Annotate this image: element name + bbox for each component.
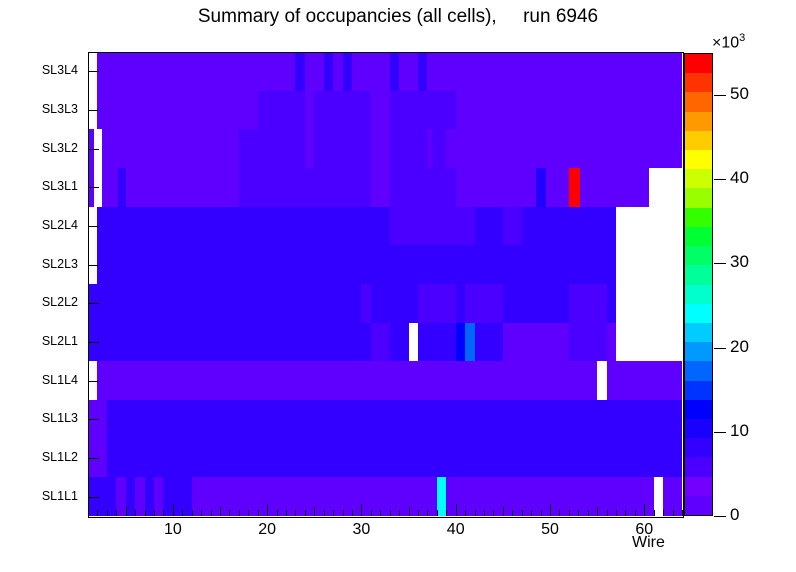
color-bar-band (685, 360, 712, 380)
x-axis-tick (475, 510, 476, 516)
y-axis-label-sl2l3: SL2L3 (8, 257, 78, 271)
x-axis-tick (635, 510, 636, 516)
color-bar-band (685, 303, 712, 323)
x-axis-tick (550, 504, 551, 516)
x-axis-tick (597, 507, 598, 516)
heatmap-cell (569, 168, 580, 207)
x-axis-tick (588, 510, 589, 516)
heatmap-cell (352, 52, 390, 91)
color-bar-band (685, 284, 712, 304)
heatmap-cell (107, 439, 682, 478)
heatmap-cell (616, 245, 682, 284)
y-axis-tick (88, 71, 99, 72)
x-axis-tick (314, 507, 315, 516)
heatmap-cell (314, 129, 371, 168)
heatmap-cell (437, 477, 446, 516)
heatmap-cell (305, 52, 324, 91)
y-axis-label-sl2l1: SL2L1 (8, 334, 78, 348)
y-axis-label-sl3l4: SL3L4 (8, 63, 78, 77)
color-bar-label-20: 20 (730, 337, 749, 357)
heatmap-cell (390, 168, 456, 207)
color-bar-label-10: 10 (730, 421, 749, 441)
x-axis-tick (305, 510, 306, 516)
x-axis-tick (616, 510, 617, 516)
color-bar-band (685, 418, 712, 438)
heatmap-cell (314, 91, 371, 130)
y-axis-tick (88, 303, 99, 304)
x-axis-tick (654, 510, 655, 516)
color-bar-multiplier-exponent: 3 (739, 32, 745, 44)
x-axis-tick (333, 510, 334, 516)
x-axis-tick (258, 510, 259, 516)
x-axis-tick (229, 510, 230, 516)
x-axis-label-40: 40 (426, 521, 486, 539)
x-axis-tick (352, 510, 353, 516)
x-axis-tick (126, 507, 127, 516)
color-bar-tick (714, 179, 726, 180)
x-axis-label-50: 50 (520, 521, 580, 539)
x-axis-tick (484, 510, 485, 516)
heatmap-cell (376, 129, 390, 168)
heatmap-cell (418, 284, 456, 323)
y-axis-label-sl1l3: SL1L3 (8, 411, 78, 425)
x-axis-tick (135, 510, 136, 516)
heatmap-cell (97, 361, 682, 400)
y-axis-tick (88, 497, 99, 498)
heatmap-cell (135, 477, 144, 516)
color-bar[interactable] (684, 53, 713, 516)
y-axis-tick (88, 265, 99, 266)
heatmap-cell (324, 52, 333, 91)
y-axis-label-sl2l4: SL2L4 (8, 218, 78, 232)
x-axis-tick (427, 510, 428, 516)
heatmap-cell (258, 91, 305, 130)
color-bar-tick (714, 516, 726, 517)
x-axis-tick (107, 510, 108, 516)
color-bar-label-40: 40 (730, 168, 749, 188)
x-axis-tick (541, 510, 542, 516)
heatmap-cell (616, 323, 682, 362)
heatmap-cell (418, 52, 427, 91)
x-axis-tick (182, 510, 183, 516)
x-axis-tick (559, 510, 560, 516)
x-axis-tick (682, 510, 683, 516)
heatmap-cell (97, 52, 295, 91)
x-axis-tick (409, 507, 410, 516)
y-axis-label-sl3l3: SL3L3 (8, 102, 78, 116)
heatmap-cell (409, 323, 418, 362)
color-bar-band (685, 322, 712, 342)
x-axis-tick (522, 510, 523, 516)
x-axis-tick (343, 510, 344, 516)
heatmap-cell (371, 323, 390, 362)
x-axis-tick (446, 510, 447, 516)
heatmap-cell (88, 168, 682, 207)
heatmap-cell (503, 207, 522, 246)
color-bar-label-30: 30 (730, 252, 749, 272)
x-axis-tick (116, 510, 117, 516)
y-axis-label-sl1l1: SL1L1 (8, 489, 78, 503)
heatmap-cell (343, 52, 352, 91)
x-axis-tick (578, 510, 579, 516)
color-bar-band (685, 72, 712, 92)
y-axis-label-sl1l2: SL1L2 (8, 450, 78, 464)
x-axis-tick (239, 510, 240, 516)
x-axis-label-30: 30 (331, 521, 391, 539)
heatmap-cell (456, 323, 465, 362)
x-axis-tick (201, 510, 202, 516)
color-bar-band (685, 341, 712, 361)
x-axis-tick (295, 510, 296, 516)
color-bar-tick (714, 263, 726, 264)
y-axis-label-sl2l2: SL2L2 (8, 295, 78, 309)
y-axis-tick (88, 149, 99, 150)
x-axis-tick (380, 510, 381, 516)
x-axis-tick (88, 510, 89, 516)
color-bar-band (685, 437, 712, 457)
y-axis-tick (88, 419, 99, 420)
color-bar-band (685, 168, 712, 188)
color-bar-band (685, 149, 712, 169)
x-axis-tick (192, 510, 193, 516)
heatmap-cell (390, 129, 428, 168)
heatmap-cell (97, 207, 191, 246)
color-bar-label-0: 0 (730, 505, 739, 525)
x-axis-tick (371, 510, 372, 516)
chart-title: Summary of occupancies (all cells), run … (0, 6, 796, 28)
y-axis-tick (88, 187, 99, 188)
x-axis-tick (644, 504, 645, 516)
y-axis-tick (88, 458, 99, 459)
x-axis-tick (418, 510, 419, 516)
heatmap-cell (361, 284, 370, 323)
heatmap-cell (432, 129, 446, 168)
heatmap-cell (116, 477, 125, 516)
x-axis-tick (145, 510, 146, 516)
x-axis-tick (625, 510, 626, 516)
color-bar-band (685, 226, 712, 246)
color-bar-band (685, 476, 712, 496)
x-axis-tick (220, 507, 221, 516)
heatmap-cell (390, 52, 399, 91)
color-bar-multiplier-base: ×10 (712, 34, 739, 51)
heatmap-cell (465, 323, 474, 362)
heatmap-cell (333, 52, 342, 91)
heatmap-cell (475, 323, 503, 362)
color-bar-multiplier: ×103 (712, 32, 745, 52)
x-axis-tick (286, 510, 287, 516)
color-bar-band (685, 399, 712, 419)
color-bar-tick (714, 348, 726, 349)
color-bar-tick (714, 432, 726, 433)
heatmap-cell (239, 129, 305, 168)
x-axis-tick (512, 510, 513, 516)
color-bar-tick (714, 95, 726, 96)
color-bar-band (685, 188, 712, 208)
heatmap-cell (390, 207, 475, 246)
heatmap-cell (597, 361, 606, 400)
x-axis-tick (277, 510, 278, 516)
x-axis-tick (569, 510, 570, 516)
x-axis-tick (324, 510, 325, 516)
heatmap-cell (154, 477, 163, 516)
x-axis-tick (163, 510, 164, 516)
heatmap-cell (390, 91, 456, 130)
heatmap-cell (569, 323, 607, 362)
x-axis-tick (663, 510, 664, 516)
heatmap-cell (616, 284, 682, 323)
x-axis-label-10: 10 (143, 521, 203, 539)
y-axis-label-sl3l2: SL3L2 (8, 141, 78, 155)
x-axis-tick (503, 507, 504, 516)
color-bar-band (685, 53, 712, 73)
heatmap-cell (107, 400, 682, 439)
heatmap-cell (118, 168, 126, 207)
x-axis-tick (97, 510, 98, 516)
color-bar-band (685, 245, 712, 265)
heatmap-cell (97, 245, 682, 284)
heatmap-cell (569, 284, 607, 323)
x-axis-tick (173, 504, 174, 516)
heatmap-cell (427, 52, 682, 91)
y-axis-tick (88, 110, 99, 111)
color-bar-band (685, 92, 712, 112)
x-axis-tick (437, 510, 438, 516)
heatmap-cell (418, 323, 456, 362)
y-axis-label-sl3l1: SL3L1 (8, 179, 78, 193)
x-axis-label-20: 20 (237, 521, 297, 539)
color-bar-band (685, 264, 712, 284)
x-axis-tick (493, 510, 494, 516)
y-axis-tick (88, 381, 99, 382)
x-axis-tick (211, 510, 212, 516)
heatmap-cell (239, 168, 371, 207)
x-axis-tick (267, 504, 268, 516)
x-axis-tick (465, 510, 466, 516)
x-axis-tick (531, 510, 532, 516)
y-axis-label-sl1l4: SL1L4 (8, 373, 78, 387)
heatmap-cell (616, 207, 682, 246)
x-axis-tick (399, 510, 400, 516)
x-axis-tick (390, 510, 391, 516)
color-bar-label-50: 50 (730, 84, 749, 104)
heatmap-cell (536, 168, 546, 207)
color-bar-band (685, 111, 712, 131)
color-bar-band (685, 207, 712, 227)
y-axis-tick (88, 342, 99, 343)
heatmap-cell (649, 168, 682, 207)
heatmap-cell (446, 477, 682, 516)
heatmap-cell (295, 52, 304, 91)
x-axis-tick (361, 504, 362, 516)
heatmap-cell (399, 52, 418, 91)
x-axis-tick (248, 510, 249, 516)
x-axis-tick (456, 504, 457, 516)
x-axis-tick (673, 510, 674, 516)
heatmap-cell (654, 477, 663, 516)
heatmap-cell (465, 284, 503, 323)
color-bar-band (685, 495, 712, 515)
x-axis-title: Wire (632, 534, 665, 552)
color-bar-band (685, 456, 712, 476)
heatmap-plot-area[interactable] (88, 52, 682, 516)
color-bar-band (685, 130, 712, 150)
x-axis-tick (607, 510, 608, 516)
x-axis-tick (154, 510, 155, 516)
y-axis-tick (88, 226, 99, 227)
color-bar-band (685, 380, 712, 400)
